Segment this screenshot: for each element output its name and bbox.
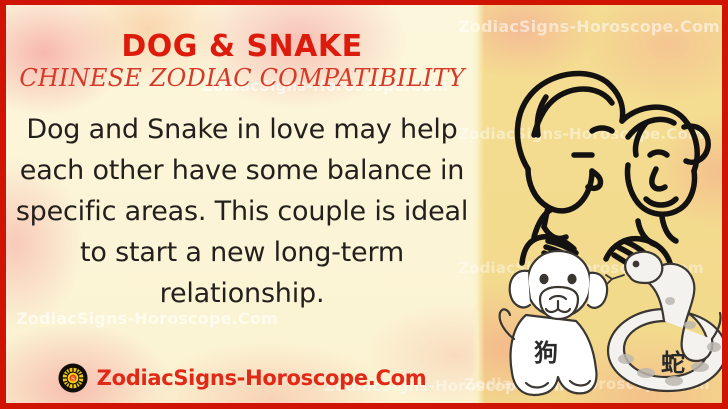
poster-frame: ZodiacSigns-Horoscope.Com ZodiacSigns-Ho… [0,0,728,409]
poster-subtitle: CHINESE ZODIAC COMPATIBILITY [6,64,478,92]
footer-brand[interactable]: S ZodiacSigns-Horoscope.Com [6,363,478,393]
svg-text:S: S [71,377,75,383]
snake-chinese-character: 蛇 [661,343,685,378]
dog-illustration [492,243,616,401]
poster-body-text: Dog and Snake in love may help each othe… [14,109,470,314]
dog-chinese-character: 狗 [534,333,558,368]
poster-canvas: ZodiacSigns-Horoscope.Com ZodiacSigns-Ho… [6,5,722,403]
sun-logo-icon: S [58,363,88,393]
footer-site-name: ZodiacSigns-Horoscope.Com [97,366,427,390]
poster-title: DOG & SNAKE [6,29,478,64]
couple-illustration [488,51,722,267]
